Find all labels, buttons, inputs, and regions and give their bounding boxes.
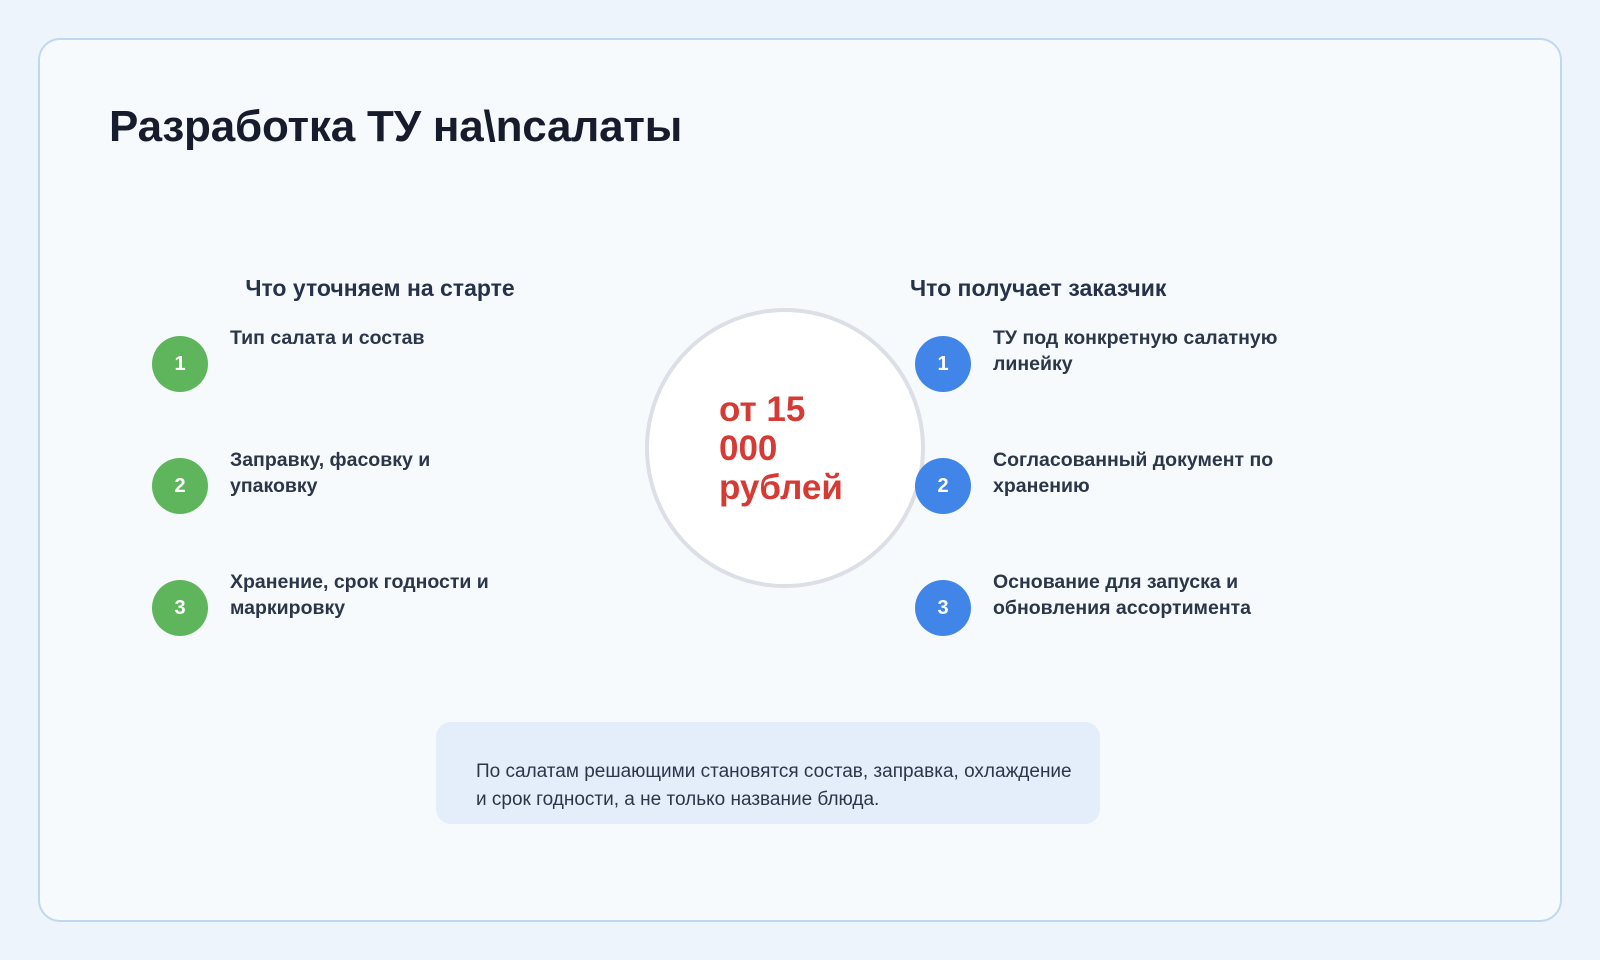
slide-card: Разработка ТУ на\nсалаты Что уточняем на… <box>38 38 1562 922</box>
left-list-item-label: Хранение, срок годности и маркировку <box>230 567 512 621</box>
step-number-badge: 1 <box>915 336 971 392</box>
note-box: По салатам решающими становятся состав, … <box>436 722 1100 824</box>
right-list-item-3: 3 Основание для запуска и обновления асс… <box>915 567 1285 636</box>
left-column-heading: Что уточняем на старте <box>90 275 670 302</box>
right-list-item-label: Основание для запуска и обновления ассор… <box>993 567 1285 621</box>
note-text: По салатам решающими становятся состав, … <box>476 758 1076 814</box>
page-title: Разработка ТУ на\nсалаты <box>109 102 682 152</box>
left-list-item-label: Заправку, фасовку и упаковку <box>230 445 452 499</box>
right-list-item-label: ТУ под конкретную салатную линейку <box>993 323 1335 377</box>
step-number-badge: 1 <box>152 336 208 392</box>
price-circle: от 15 000 рублей <box>645 308 925 588</box>
price-label: от 15 000 рублей <box>719 390 869 507</box>
step-number-badge: 3 <box>152 580 208 636</box>
left-list-item-3: 3 Хранение, срок годности и маркировку <box>152 567 512 636</box>
step-number-badge: 2 <box>152 458 208 514</box>
right-column-heading: Что получает заказчик <box>870 275 1470 302</box>
left-list-item-label: Тип салата и состав <box>230 323 424 351</box>
right-list-item-1: 1 ТУ под конкретную салатную линейку <box>915 323 1335 392</box>
right-list-item-label: Согласованный документ по хранению <box>993 445 1315 499</box>
step-number-badge: 3 <box>915 580 971 636</box>
right-list-item-2: 2 Согласованный документ по хранению <box>915 445 1315 514</box>
step-number-badge: 2 <box>915 458 971 514</box>
left-list-item-2: 2 Заправку, фасовку и упаковку <box>152 445 452 514</box>
left-list-item-1: 1 Тип салата и состав <box>152 323 572 392</box>
